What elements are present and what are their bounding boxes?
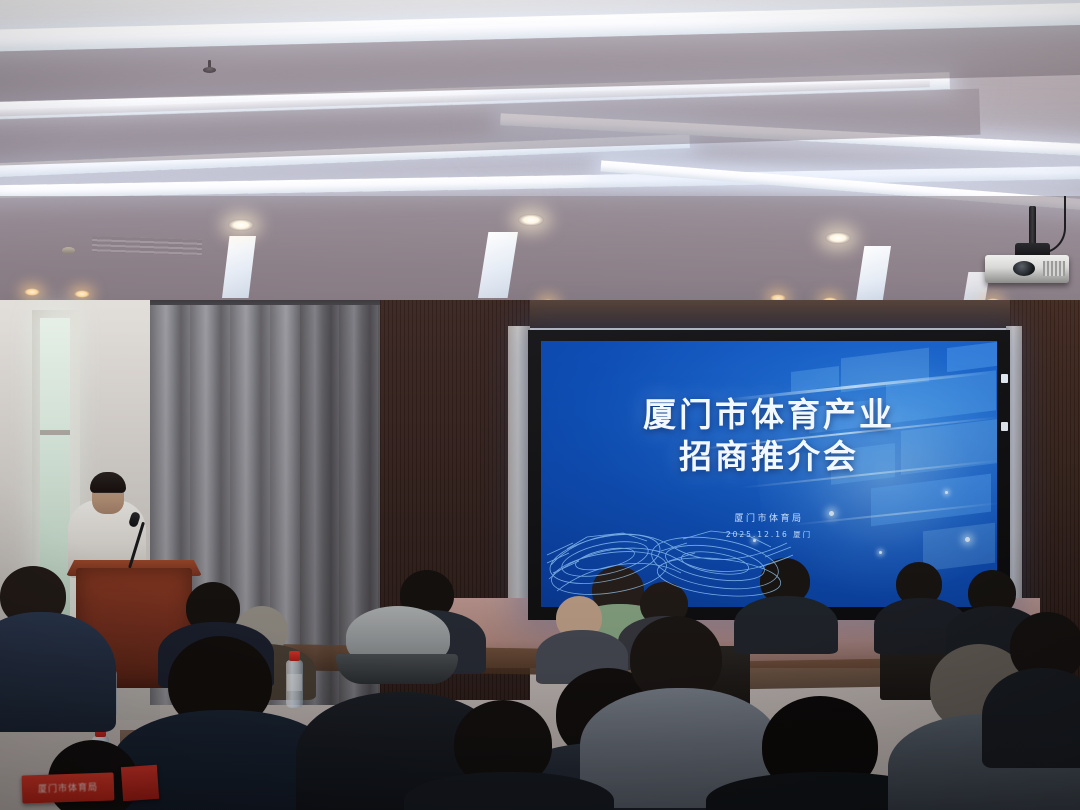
smoke-detector-icon [62, 247, 75, 254]
window-mullion [40, 430, 70, 435]
projector-mount-pole [1029, 206, 1036, 248]
screen-subtitle: 厦门市体育局 2025.12.16 厦门 [541, 511, 997, 540]
screen-date-location: 2025.12.16 厦门 [541, 529, 997, 540]
ceiling-downlight-5 [74, 290, 90, 298]
name-placard-front: 厦门市体育局 [22, 772, 115, 803]
screen-sparkle-5 [945, 491, 948, 494]
screen-organizer: 厦门市体育局 [541, 511, 997, 524]
screen-title-line-1: 厦门市体育产业 [643, 395, 895, 434]
ceiling [0, 0, 1080, 332]
audience-shoulders-f8 [982, 668, 1080, 768]
projector-vent-grille [1043, 261, 1065, 276]
screen-title-line-2: 招商推介会 [541, 436, 997, 478]
projector-lens-icon [1013, 261, 1035, 276]
water-bottle-2[interactable] [286, 660, 303, 708]
fire-sprinkler-icon [203, 60, 216, 76]
screen-bezel-led-2 [1001, 422, 1008, 431]
ceiling-downlight-4 [24, 288, 40, 296]
ceiling-downlight-3 [825, 232, 851, 244]
screen-bezel-led-1 [1001, 374, 1008, 383]
screen-main-title: 厦门市体育产业 招商推介会 [541, 394, 997, 478]
speaker-hair [90, 472, 126, 493]
name-placard-secondary [121, 765, 159, 801]
name-placard-text: 厦门市体育局 [22, 779, 114, 795]
conference-hall-photo: 厦门市体育产业 招商推介会 厦门市体育局 2025.12.16 厦门 [0, 0, 1080, 810]
screen-sparkle-2 [879, 551, 882, 554]
baseball-cap-brim [336, 654, 458, 684]
ceiling-downlight-1 [228, 219, 254, 231]
ceiling-downlight-2 [518, 214, 544, 226]
speaker-glasses-icon [95, 492, 121, 498]
